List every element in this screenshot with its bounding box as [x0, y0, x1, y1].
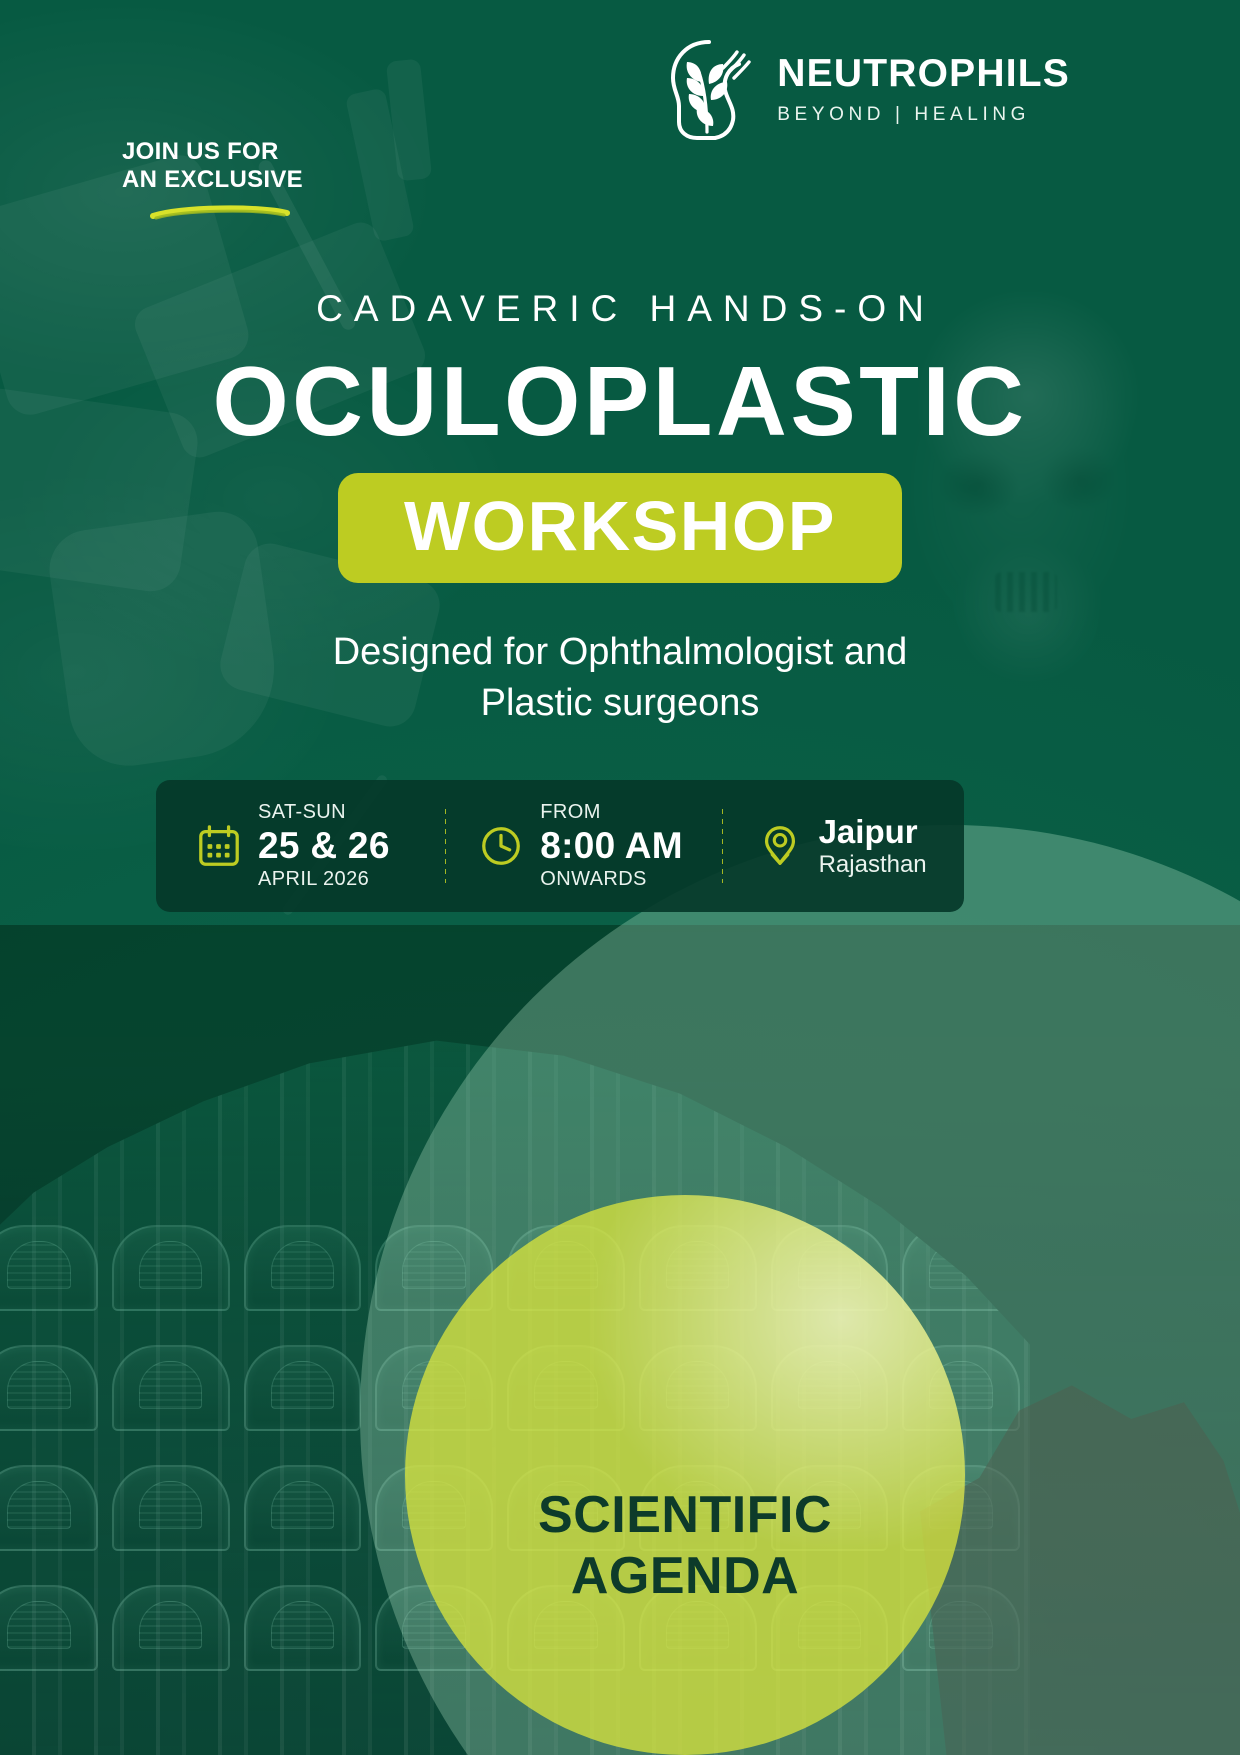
info-location: Jaipur Rajasthan — [723, 813, 964, 880]
location-city: Jaipur — [819, 813, 927, 851]
info-divider-1 — [445, 809, 446, 883]
headline-subtitle-line-2: Plastic surgeons — [0, 678, 1240, 729]
headline-subtitle-line-1: Designed for Ophthalmologist and — [0, 627, 1240, 678]
calendar-icon — [196, 823, 242, 869]
info-date: SAT-SUN 25 & 26 APRIL 2026 — [156, 800, 445, 892]
headline-block: CADAVERIC HANDS-ON OCULOPLASTIC WORKSHOP… — [0, 288, 1240, 728]
eyebrow-block: JOIN US FOR AN EXCLUSIVE — [122, 138, 422, 226]
head-leaf-hand-logo-icon — [663, 38, 759, 142]
time-suffix: ONWARDS — [540, 866, 683, 892]
logo-name: NEUTROPHILS — [777, 54, 1070, 93]
date-month-year: APRIL 2026 — [258, 866, 390, 892]
location-state: Rajasthan — [819, 851, 927, 880]
date-label: SAT-SUN — [258, 800, 390, 825]
time-label: FROM — [540, 800, 683, 825]
info-divider-2 — [722, 809, 723, 883]
agenda-line-2: AGENDA — [538, 1546, 832, 1607]
swoosh-underline-icon — [150, 205, 290, 221]
eyebrow-line-1: JOIN US FOR — [122, 138, 422, 166]
logo-tagline: BEYOND | HEALING — [777, 104, 1070, 126]
brand-logo: NEUTROPHILS BEYOND | HEALING — [663, 38, 1070, 142]
workshop-badge: WORKSHOP — [338, 473, 902, 583]
scientific-agenda-circle: SCIENTIFIC AGENDA — [405, 1195, 965, 1755]
date-value: 25 & 26 — [258, 825, 390, 866]
agenda-line-1: SCIENTIFIC — [538, 1485, 832, 1546]
headline-kicker: CADAVERIC HANDS-ON — [11, 288, 1240, 330]
clock-icon — [478, 823, 524, 869]
location-pin-icon — [757, 823, 803, 869]
event-info-bar: SAT-SUN 25 & 26 APRIL 2026 FROM 8:00 AM … — [156, 780, 964, 912]
eyebrow-line-2: AN EXCLUSIVE — [122, 166, 422, 194]
info-time: FROM 8:00 AM ONWARDS — [446, 800, 721, 892]
time-value: 8:00 AM — [540, 825, 683, 866]
headline-title: OCULOPLASTIC — [0, 350, 1240, 453]
event-poster: NEUTROPHILS BEYOND | HEALING JOIN US FOR… — [0, 0, 1240, 1755]
